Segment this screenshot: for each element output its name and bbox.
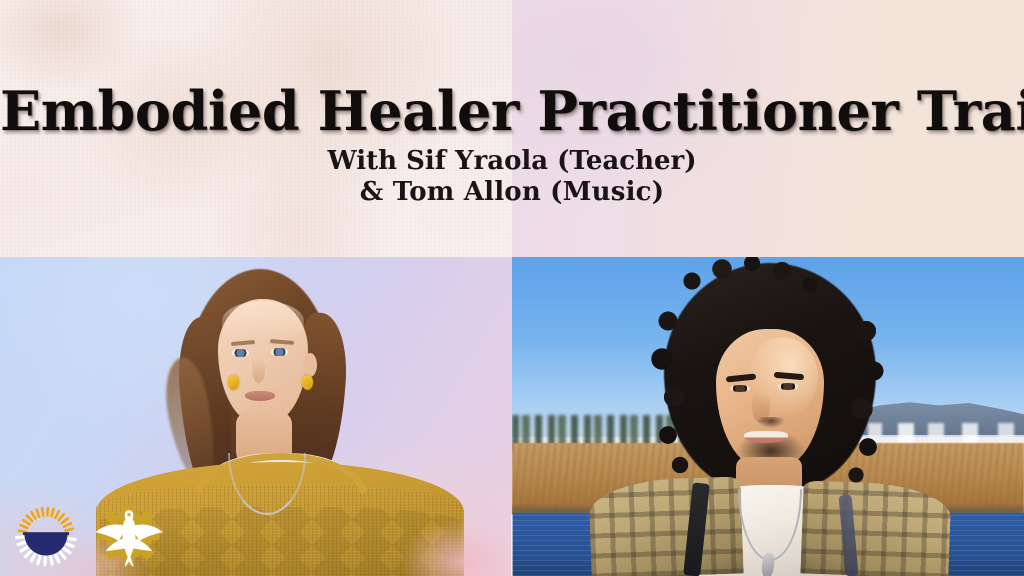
musician-hair-right-curls xyxy=(824,309,896,489)
photo-divider xyxy=(511,514,513,576)
sun-circle-icon xyxy=(10,498,82,570)
teacher-eye-left xyxy=(232,349,249,357)
musician-mouth xyxy=(744,431,788,443)
slide-canvas: Embodied Healer Practitioner Training Wi… xyxy=(0,0,1024,576)
musician-eye-left xyxy=(730,385,750,392)
musician-flannel-right-panel xyxy=(800,480,951,576)
logo-group xyxy=(6,488,166,570)
subtitle-line-music: & Tom Allon (Music) xyxy=(0,177,1024,208)
teacher-eye-right xyxy=(271,348,288,356)
teacher-earring-right xyxy=(302,375,313,390)
subtitle-line-teacher: With Sif Yraola (Teacher) xyxy=(0,146,1024,177)
musician-eye-right xyxy=(778,383,798,390)
sun-circle-logo xyxy=(10,498,82,570)
teacher-nose xyxy=(252,357,265,383)
page-title: Embodied Healer Practitioner Training xyxy=(0,82,1024,140)
teacher-photo-pink-blob-right xyxy=(402,520,512,576)
page-subtitle: With Sif Yraola (Teacher) & Tom Allon (M… xyxy=(0,146,1024,208)
header-banner: Embodied Healer Practitioner Training Wi… xyxy=(0,0,1024,257)
dove-starburst-icon xyxy=(92,500,166,570)
teacher-ear-right xyxy=(303,353,317,377)
dove-starburst-logo xyxy=(92,500,166,570)
teacher-earring-left xyxy=(228,375,239,390)
teacher-forehead-highlight xyxy=(222,301,304,341)
musician-hair-left-curls xyxy=(648,301,720,481)
teacher-mouth xyxy=(245,391,275,401)
portrait-photo-musician xyxy=(512,257,1024,576)
musician-flannel-left-panel xyxy=(588,476,743,576)
